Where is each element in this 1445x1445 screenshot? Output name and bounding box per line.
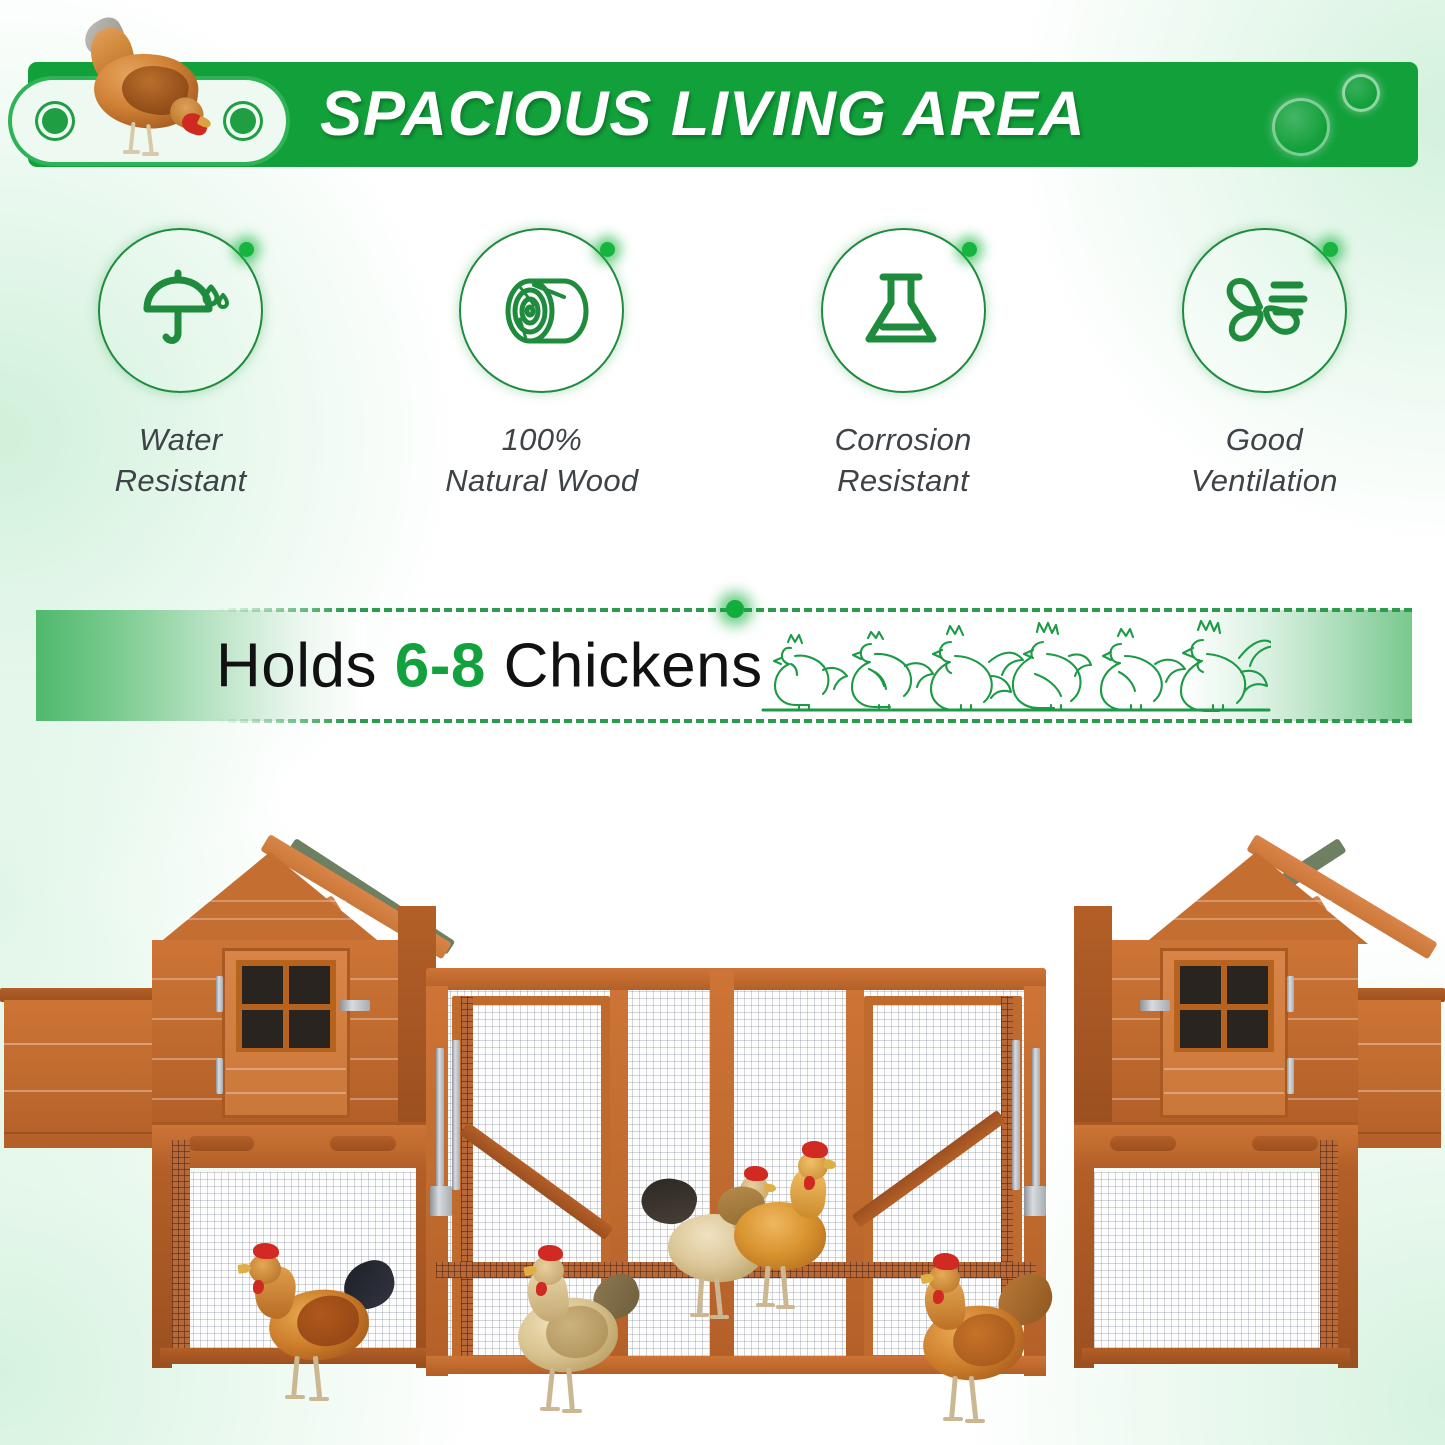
glow-dot-icon <box>726 600 744 618</box>
glow-dot-icon <box>1323 242 1338 257</box>
plank-line <box>1164 1068 1284 1070</box>
right-leg <box>1074 1168 1094 1368</box>
right-run-rod[interactable] <box>1012 1040 1020 1190</box>
capacity-prefix: Holds <box>216 631 395 700</box>
feature-label: 100% Natural Wood <box>445 420 638 502</box>
gate-mesh-band <box>461 996 473 1364</box>
feature-label-line1: Corrosion <box>835 422 972 457</box>
window-pane <box>242 966 283 1004</box>
plank-line <box>4 1090 166 1092</box>
feature-label-line2: Natural Wood <box>445 463 638 498</box>
plank-line <box>226 1068 346 1070</box>
fan-ventilation-icon <box>1214 261 1314 361</box>
right-gate-latch[interactable] <box>1024 1186 1046 1216</box>
left-run-rod[interactable] <box>452 1040 460 1190</box>
window-pane <box>1227 966 1268 1004</box>
capacity-dashed-bottom <box>36 719 1412 723</box>
left-wing-body <box>4 1000 166 1148</box>
drawer-handle[interactable] <box>1252 1136 1318 1151</box>
plank-line <box>4 1043 166 1045</box>
capacity-text: Holds 6-8 Chickens <box>216 630 763 701</box>
live-chicken <box>718 1150 848 1310</box>
plank-line <box>226 1092 346 1094</box>
left-gable <box>158 852 382 944</box>
bubble-circle-icon <box>1272 98 1330 156</box>
feature-label-line2: Resistant <box>837 463 969 498</box>
right-house-tower <box>1074 906 1112 1122</box>
live-chicken <box>905 1262 1055 1427</box>
feature-label: Water Resistant <box>115 420 247 502</box>
chicken-line-art-icon <box>761 614 1271 718</box>
drawer-handle[interactable] <box>1110 1136 1176 1151</box>
capacity-count: 6-8 <box>395 631 486 700</box>
live-chicken <box>245 1248 395 1408</box>
left-mesh-band <box>172 1140 190 1362</box>
feature-item-natural-wood: 100% Natural Wood <box>361 228 722 528</box>
left-door-latch[interactable] <box>340 1000 370 1011</box>
right-gate-handle[interactable] <box>1032 1048 1040 1186</box>
feature-list: Water Resistant 100% Natural Wood <box>0 228 1445 528</box>
center-run-top-rail <box>426 968 1046 990</box>
left-door-hinge <box>216 976 223 1012</box>
drawer-handle[interactable] <box>188 1136 254 1151</box>
capacity-suffix: Chickens <box>486 631 763 700</box>
feature-label: Good Ventilation <box>1191 420 1338 502</box>
bubble-circle-small-icon <box>1342 74 1380 112</box>
header-banner: SPACIOUS LIVING AREA <box>0 62 1445 167</box>
badge-dot-right-icon <box>226 104 260 138</box>
left-leg <box>152 1168 172 1368</box>
flask-icon <box>855 263 951 359</box>
window-pane <box>289 1010 330 1048</box>
feature-label-line1: 100% <box>502 422 583 457</box>
left-gate-latch[interactable] <box>430 1186 452 1216</box>
window-pane <box>242 1010 283 1048</box>
right-door-hinge <box>1287 1058 1294 1094</box>
plank-line <box>1164 1092 1284 1094</box>
product-image-chicken-coop <box>0 800 1445 1445</box>
feature-label-line2: Ventilation <box>1191 463 1338 498</box>
feature-circle <box>821 228 986 393</box>
wood-log-icon <box>490 259 594 363</box>
glow-dot-icon <box>962 242 977 257</box>
feature-label: Corrosion Resistant <box>835 420 972 502</box>
window-pane <box>1227 1010 1268 1048</box>
right-mesh-band <box>1320 1140 1338 1362</box>
plank-line <box>1178 900 1332 902</box>
plank-line <box>192 900 346 902</box>
feature-circle <box>459 228 624 393</box>
plank-line <box>1164 918 1346 920</box>
left-gate-handle[interactable] <box>436 1048 444 1186</box>
capacity-dashed-top <box>36 608 1412 612</box>
feature-item-corrosion-resistant: Corrosion Resistant <box>723 228 1084 528</box>
glow-dot-icon <box>239 242 254 257</box>
plank-line <box>178 918 360 920</box>
left-door-hinge <box>216 1058 223 1094</box>
feature-label-line1: Good <box>1226 422 1303 457</box>
feature-label-line1: Water <box>139 422 223 457</box>
badge-dot-left-icon <box>38 104 72 138</box>
right-lower-mesh <box>1094 1172 1338 1362</box>
feature-item-water-resistant: Water Resistant <box>0 228 361 528</box>
right-run-base <box>1082 1348 1350 1364</box>
feature-circle <box>1182 228 1347 393</box>
hen-photo-icon <box>78 14 230 164</box>
run-post <box>846 990 864 1372</box>
right-door-latch[interactable] <box>1140 1000 1170 1011</box>
page-title: SPACIOUS LIVING AREA <box>320 62 1086 167</box>
live-chicken <box>500 1252 645 1417</box>
feature-circle <box>98 228 263 393</box>
window-pane <box>1180 1010 1221 1048</box>
right-leg <box>1338 1168 1358 1368</box>
umbrella-raindrop-icon <box>133 263 229 359</box>
drawer-handle[interactable] <box>330 1136 396 1151</box>
right-gable <box>1144 852 1368 944</box>
capacity-banner: Holds 6-8 Chickens <box>36 608 1412 723</box>
window-pane <box>1180 966 1221 1004</box>
window-pane <box>289 966 330 1004</box>
plank-line <box>4 1132 166 1134</box>
right-door-hinge <box>1287 976 1294 1012</box>
feature-label-line2: Resistant <box>115 463 247 498</box>
glow-dot-icon <box>600 242 615 257</box>
feature-item-good-ventilation: Good Ventilation <box>1084 228 1445 528</box>
